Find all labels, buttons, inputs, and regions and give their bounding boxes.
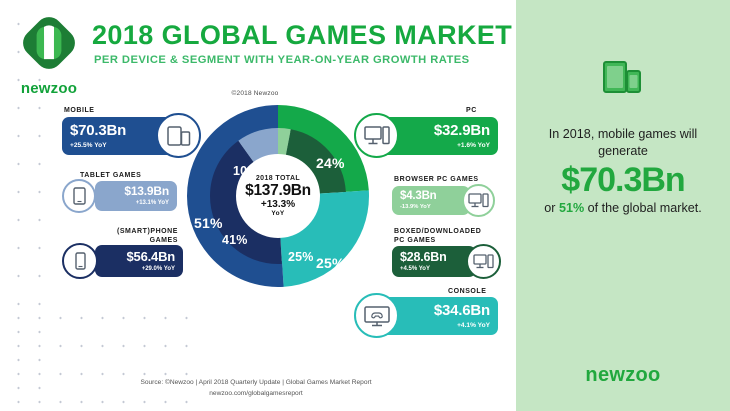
browser-pc-icon-circle bbox=[462, 184, 495, 217]
smartphone-caption-line1: (SMART)PHONE bbox=[117, 228, 178, 235]
browser-pc-value: $4.3Bn bbox=[400, 190, 437, 202]
highlight-panel: In 2018, mobile games will generate $70.… bbox=[516, 0, 730, 411]
copyright-note: ©2018 Newzoo bbox=[0, 90, 510, 97]
page-subtitle: PER DEVICE & SEGMENT WITH YEAR-ON-YEAR G… bbox=[94, 54, 470, 66]
tablet-caption: TABLET GAMES bbox=[80, 172, 141, 181]
desktop-pc-icon bbox=[473, 254, 494, 270]
infographic-page: newzoo 2018 GLOBAL GAMES MARKET PER DEVI… bbox=[0, 0, 730, 411]
newzoo-diamond-logo-icon bbox=[18, 12, 80, 74]
console-value: $34.6Bn bbox=[434, 303, 490, 319]
console-yoy: +4.1% YoY bbox=[457, 322, 490, 329]
mobile-caption: MOBILE bbox=[64, 107, 95, 116]
smartphone-badge[interactable]: $56.4Bn +29.0% YoY bbox=[95, 245, 183, 277]
mobile-yoy: +25.5% YoY bbox=[70, 142, 126, 149]
total-label: 2018 TOTAL bbox=[256, 175, 300, 182]
console-caption: CONSOLE bbox=[448, 288, 486, 297]
total-value: $137.9Bn bbox=[245, 182, 311, 200]
panel-icon-wrap bbox=[516, 60, 730, 102]
tablet-yoy: +13.1% YoY bbox=[136, 200, 169, 207]
panel-tail-prefix: or bbox=[544, 201, 559, 215]
desktop-pc-icon bbox=[364, 125, 390, 146]
boxed-pc-value: $28.6Bn bbox=[400, 251, 447, 264]
panel-tail-text: or 51% of the global market. bbox=[538, 200, 708, 217]
panel-tail-suffix: of the global market. bbox=[584, 201, 702, 215]
smartphone-yoy: +29.0% YoY bbox=[142, 266, 175, 273]
mobile-icon-circle bbox=[156, 113, 201, 158]
tablet-badge[interactable]: $13.9Bn +13.1% YoY bbox=[95, 181, 177, 211]
pc-value: $32.9Bn bbox=[434, 123, 490, 139]
tablet-and-phone-icon bbox=[167, 125, 191, 147]
panel-big-figure: $70.3Bn bbox=[526, 163, 720, 197]
desktop-pc-icon bbox=[468, 193, 489, 209]
outer-pct-pc: 24% bbox=[316, 155, 345, 171]
boxed-pc-badge[interactable]: $28.6Bn +4.5% YoY bbox=[392, 246, 476, 277]
donut-center-total: 2018 TOTAL $137.9Bn +13.3% YoY bbox=[241, 159, 315, 233]
total-growth-unit: YoY bbox=[271, 210, 284, 217]
source-footer: Source: ©Newzoo | April 2018 Quarterly U… bbox=[0, 377, 512, 399]
boxed-pc-caption-line2: PC GAMES bbox=[394, 237, 436, 244]
panel-lead-text: In 2018, mobile games will generate bbox=[532, 126, 714, 159]
smartphone-caption-line2: GAMES bbox=[150, 237, 178, 244]
mobile-value: $70.3Bn bbox=[70, 123, 126, 139]
tablet-icon bbox=[73, 187, 86, 205]
boxed-pc-caption: BOXED/DOWNLOADED PC GAMES bbox=[394, 228, 481, 246]
page-title: 2018 GLOBAL GAMES MARKET bbox=[92, 22, 512, 49]
boxed-pc-caption-line1: BOXED/DOWNLOADED bbox=[394, 228, 481, 235]
source-line-2: newzoo.com/globalgamesreport bbox=[0, 388, 512, 399]
newzoo-logo: newzoo bbox=[18, 12, 90, 88]
boxed-pc-icon-circle bbox=[466, 244, 501, 279]
outer-pct-mobile: 51% bbox=[194, 215, 223, 231]
inner-pct-console: 25% bbox=[288, 250, 314, 264]
pc-yoy: +1.6% YoY bbox=[457, 142, 490, 149]
tablet-and-phone-icon bbox=[603, 60, 643, 102]
tablet-value: $13.9Bn bbox=[124, 185, 169, 198]
smartphone-caption: (SMART)PHONE GAMES bbox=[78, 228, 178, 246]
total-growth: +13.3% bbox=[261, 199, 295, 210]
smartphone-icon-circle bbox=[62, 243, 98, 279]
source-line-1: Source: ©Newzoo | April 2018 Quarterly U… bbox=[0, 377, 512, 388]
panel-logo-wordmark: newzoo bbox=[516, 364, 730, 387]
browser-pc-badge[interactable]: $4.3Bn -13.9% YoY bbox=[392, 186, 470, 215]
panel-tail-highlight: 51% bbox=[559, 201, 584, 215]
outer-pct-console: 25% bbox=[316, 255, 345, 271]
pc-icon-circle bbox=[354, 113, 399, 158]
tablet-icon-circle bbox=[62, 179, 96, 213]
smartphone-value: $56.4Bn bbox=[127, 250, 175, 264]
pc-caption: PC bbox=[466, 107, 477, 116]
browser-pc-yoy: -13.9% YoY bbox=[400, 204, 437, 210]
browser-pc-caption: BROWSER PC GAMES bbox=[394, 176, 479, 185]
smartphone-icon bbox=[75, 252, 86, 270]
boxed-pc-yoy: +4.5% YoY bbox=[400, 266, 447, 273]
console-icon-circle bbox=[354, 293, 399, 338]
inner-pct-smartphone: 41% bbox=[222, 233, 248, 247]
console-tv-gamepad-icon bbox=[364, 305, 390, 327]
